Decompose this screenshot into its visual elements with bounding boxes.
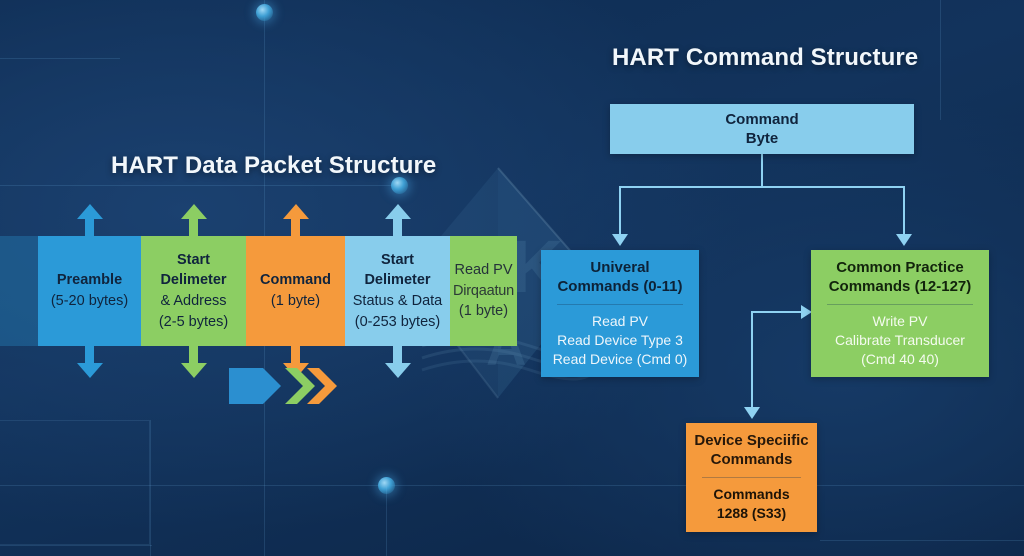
packet-segment-line: Start Delimeter xyxy=(349,250,446,291)
tree-crossbar xyxy=(620,186,905,188)
command-byte-line1: Command xyxy=(725,111,798,128)
chevron-green xyxy=(285,368,315,404)
packet-segment-line: Preamble xyxy=(57,270,122,291)
node-device-title: Device Speciific Commands xyxy=(686,423,817,477)
node-common-items: Write PV Calibrate Transducer (Cmd 40 40… xyxy=(811,305,989,378)
universal-item: Read PV xyxy=(549,312,691,331)
packet-segment-line: Status & Data xyxy=(353,291,442,312)
device-item: 1288 (S33) xyxy=(694,504,809,523)
circuit-box xyxy=(0,420,150,545)
packet-segment-line: Read PV xyxy=(454,260,512,281)
chevron-decoration xyxy=(229,366,337,406)
packet-arrow-up xyxy=(385,204,411,236)
packet-segment-line: Dirqaatun xyxy=(453,281,514,302)
circuit-dot xyxy=(378,477,395,494)
diagram-canvas: P K A HART Data Packet Structure HART Co… xyxy=(0,0,1024,556)
tree-arrow-left xyxy=(612,234,628,246)
packet-arrow-down xyxy=(181,346,207,378)
packet-arrow-down xyxy=(385,346,411,378)
packet-segment-line: (5-20 bytes) xyxy=(51,291,128,312)
node-command-byte[interactable]: Command Byte xyxy=(610,104,914,154)
node-common-practice-commands[interactable]: Common Practice Commands (12-127) Write … xyxy=(811,250,989,377)
device-title-line2: Commands xyxy=(711,451,793,468)
packet-segment-line: (1 byte) xyxy=(459,301,508,322)
node-command-byte-title: Command Byte xyxy=(610,104,914,156)
tree-branch-right xyxy=(903,186,905,234)
common-item: Calibrate Transducer xyxy=(819,331,981,350)
tree-branch-left xyxy=(619,186,621,234)
tree-arrow-device xyxy=(744,407,760,419)
universal-title-line1: Univeral xyxy=(590,259,649,276)
node-universal-commands[interactable]: Univeral Commands (0-11) Read PV Read De… xyxy=(541,250,699,377)
node-universal-items: Read PV Read Device Type 3 Read Device (… xyxy=(541,305,699,378)
packet-segment-line: & Address xyxy=(160,291,226,312)
circuit-line xyxy=(0,485,1024,486)
node-device-items: Commands 1288 (S33) xyxy=(686,478,817,532)
universal-title-line2: Commands (0-11) xyxy=(557,278,682,295)
packet-segment-line: (0-253 bytes) xyxy=(355,312,440,333)
packet-segment-start-delimiter-status-data[interactable]: Start DelimeterStatus & Data(0-253 bytes… xyxy=(345,236,450,346)
packet-structure-title: HART Data Packet Structure xyxy=(111,152,436,180)
common-title-line1: Common Practice xyxy=(836,259,964,276)
tree-branch-device xyxy=(751,311,753,407)
universal-item: Read Device (Cmd 0) xyxy=(549,350,691,369)
packet-arrow-down xyxy=(77,346,103,378)
circuit-dot xyxy=(256,4,273,21)
common-title-line2: Commands (12-127) xyxy=(829,278,972,295)
node-common-title: Common Practice Commands (12-127) xyxy=(811,250,989,304)
tree-elbow-to-common xyxy=(751,311,801,313)
packet-arrow-up xyxy=(283,204,309,236)
universal-item: Read Device Type 3 xyxy=(549,331,691,350)
packet-segment-line: (2-5 bytes) xyxy=(159,312,228,333)
packet-segment-preamble[interactable]: Preamble(5-20 bytes) xyxy=(38,236,141,346)
tree-stem xyxy=(761,154,763,188)
circuit-line xyxy=(0,185,398,186)
node-universal-title: Univeral Commands (0-11) xyxy=(541,250,699,304)
common-item: Write PV xyxy=(819,312,981,331)
circuit-line xyxy=(820,540,1024,541)
packet-segment-ghost-left[interactable] xyxy=(0,236,38,346)
tree-arrow-right xyxy=(896,234,912,246)
pennant-shape xyxy=(229,368,281,404)
common-item: (Cmd 40 40) xyxy=(819,350,981,369)
packet-arrow-up xyxy=(181,204,207,236)
packet-segment-line: (1 byte) xyxy=(271,291,320,312)
device-title-line1: Device Speciific xyxy=(694,432,808,449)
circuit-line xyxy=(386,485,387,556)
packet-arrow-up xyxy=(77,204,103,236)
command-byte-line2: Byte xyxy=(746,130,779,147)
device-item: Commands xyxy=(694,485,809,504)
circuit-line xyxy=(940,0,941,120)
command-structure-title: HART Command Structure xyxy=(612,44,918,72)
hart-data-packet-strip: Preamble(5-20 bytes)Start Delimeter& Add… xyxy=(0,236,517,346)
packet-segment-line: Command xyxy=(260,270,331,291)
circuit-line xyxy=(150,420,151,556)
packet-segment-read-pv[interactable]: Read PVDirqaatun(1 byte) xyxy=(450,236,517,346)
packet-segment-command[interactable]: Command(1 byte) xyxy=(246,236,345,346)
packet-segment-start-delimiter-address[interactable]: Start Delimeter& Address(2-5 bytes) xyxy=(141,236,246,346)
circuit-line xyxy=(0,545,152,546)
circuit-line xyxy=(0,58,120,59)
node-device-specific-commands[interactable]: Device Speciific Commands Commands 1288 … xyxy=(686,423,817,532)
packet-segment-line: Start Delimeter xyxy=(145,250,242,291)
